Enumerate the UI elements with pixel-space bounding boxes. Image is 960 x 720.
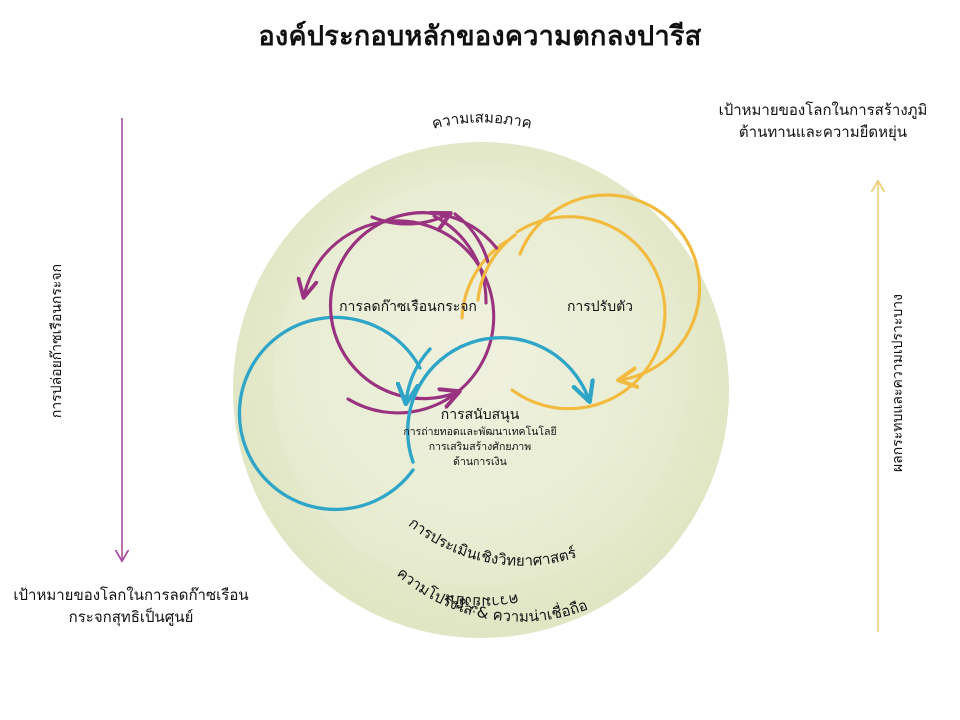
- support-subline-technology: การถ่ายทอดและพัฒนาเทคโนโลยี: [390, 425, 570, 440]
- ring-label-adaptation: การปรับตัว: [520, 296, 680, 318]
- diagram-stage: ความเสมอภาค ความยั่งยืน การประเมินเชิงวิ…: [0, 0, 960, 720]
- support-subline-finance: ด้านการเงิน: [390, 455, 570, 470]
- support-subline-capacity-building: การเสริมสร้างศักยภาพ: [390, 440, 570, 455]
- diagram-canvas: องค์ประกอบหลักของความตกลงปารีส เป้าหมายข…: [0, 0, 960, 720]
- ring-label-mitigation: การลดก๊าซเรือนกระจก: [318, 296, 498, 318]
- ring-label-support: การสนับสนุน: [390, 406, 570, 425]
- disc-arc-label-equity: ความเสมอภาค: [430, 109, 534, 133]
- ring-label-support-block: การสนับสนุน การถ่ายทอดและพัฒนาเทคโนโลยี …: [390, 406, 570, 471]
